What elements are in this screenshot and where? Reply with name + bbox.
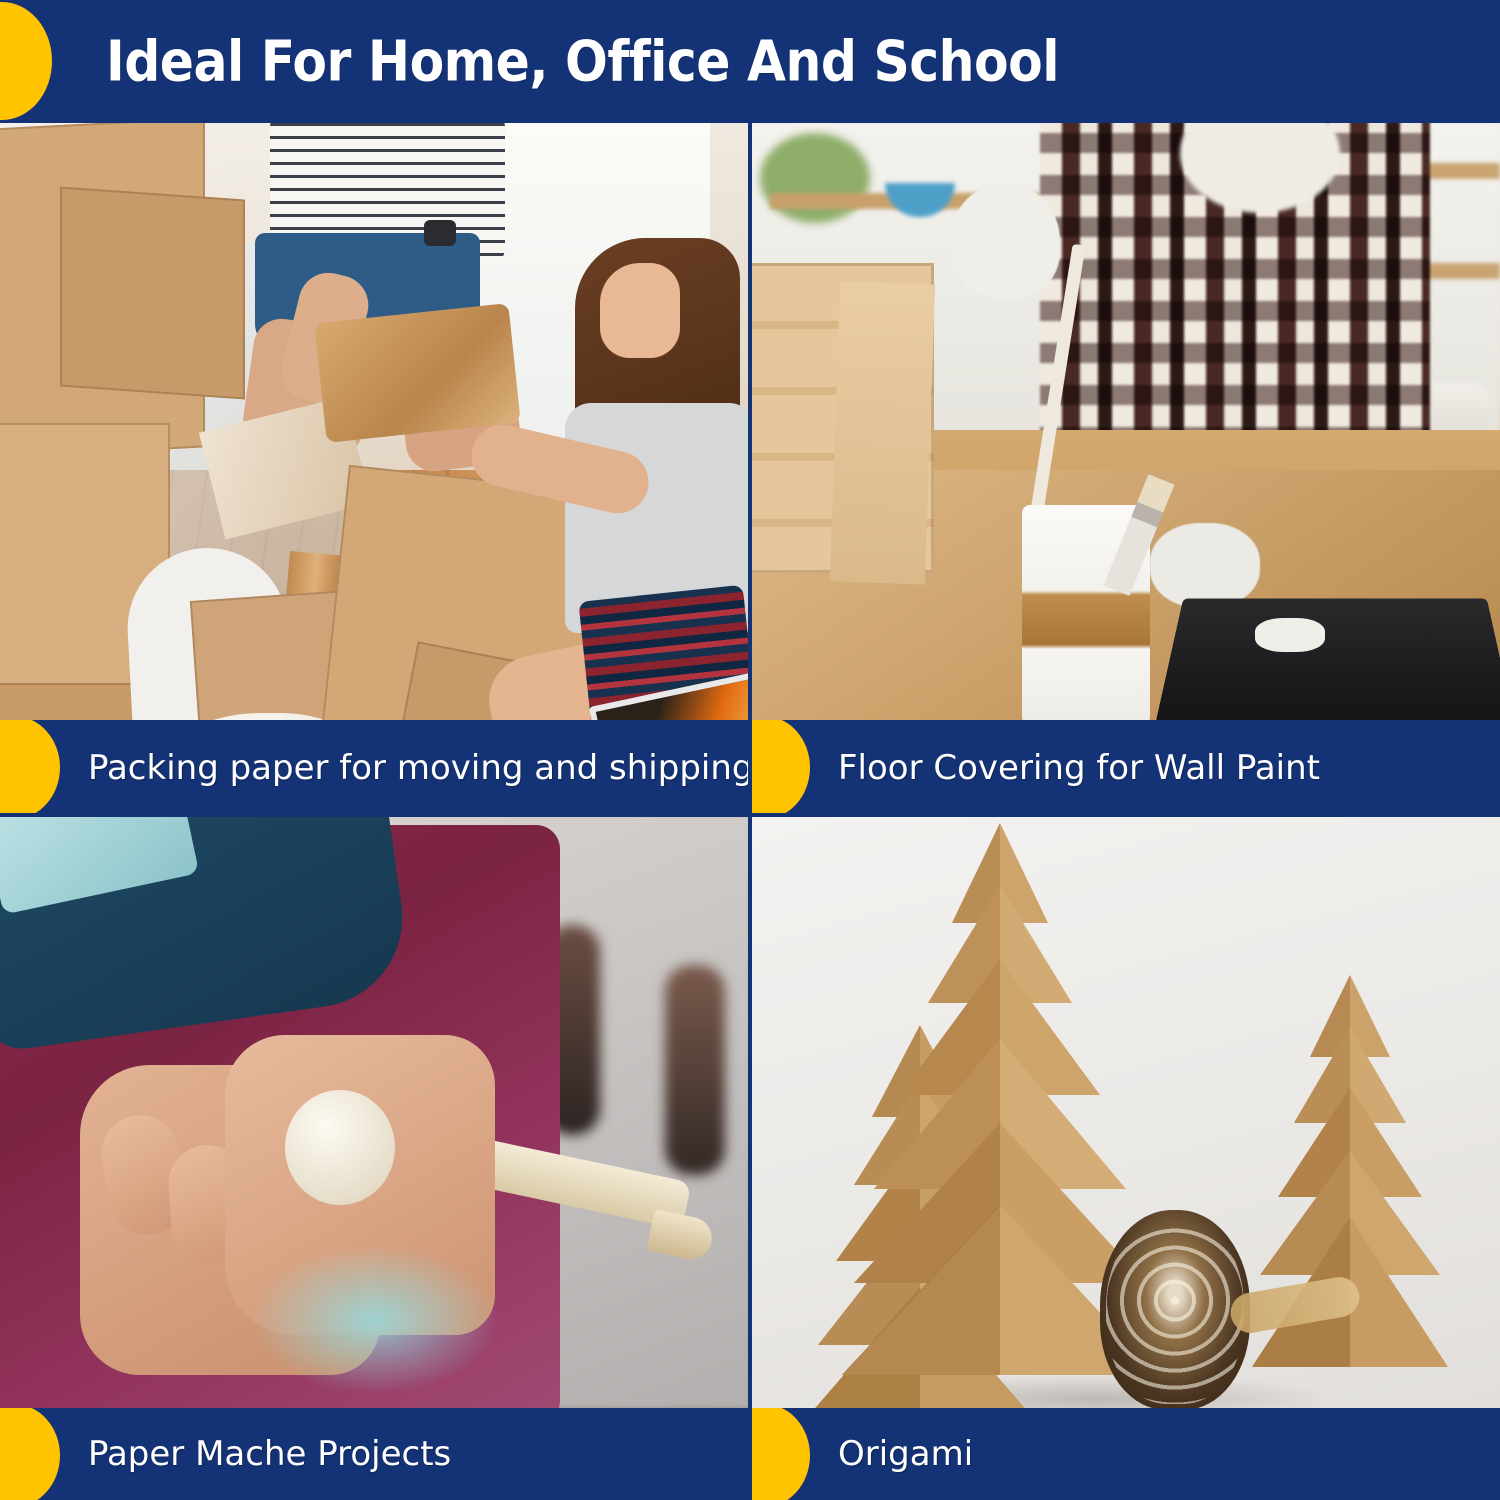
horizontal-divider (0, 813, 1500, 817)
caption-accent-semicircle (750, 1408, 810, 1500)
photo-paper-mache (0, 815, 750, 1408)
header-banner: Ideal For Home, Office And School (0, 0, 1500, 123)
photo-floor-covering (750, 123, 1500, 720)
caption-bar-origami: Origami (750, 1408, 1500, 1500)
vertical-divider (748, 123, 752, 1500)
feature-card-paper-mache[interactable]: Paper Mache Projects (0, 815, 750, 1500)
page-title: Ideal For Home, Office And School (106, 29, 1059, 94)
caption-bar-floor-covering: Floor Covering for Wall Paint (750, 720, 1500, 815)
plant (760, 133, 870, 223)
caption-text: Paper Mache Projects (88, 1434, 451, 1474)
caption-accent-semicircle (0, 720, 60, 815)
woman-face (600, 263, 680, 358)
paper-mache-ball (285, 1090, 395, 1205)
background-object (665, 965, 725, 1175)
caption-bar-paper-mache: Paper Mache Projects (0, 1408, 750, 1500)
caption-bar-packing: Packing paper for moving and shipping (0, 720, 750, 815)
paint-tray (1154, 598, 1500, 720)
cardboard-box (60, 187, 245, 400)
infographic-sheet: Ideal For Home, Office And School (0, 0, 1500, 1500)
feature-grid: Packing paper for moving and shipping (0, 123, 1500, 1500)
paint-in-tray (1255, 618, 1325, 652)
gloved-hand (950, 183, 1060, 298)
photo-origami (750, 815, 1500, 1408)
caption-text: Floor Covering for Wall Paint (838, 748, 1320, 788)
caption-accent-semicircle (750, 720, 810, 815)
feature-card-packing[interactable]: Packing paper for moving and shipping (0, 123, 750, 815)
photo-packing (0, 123, 750, 720)
crumpled-kraft-paper (314, 303, 520, 443)
caption-text: Origami (838, 1434, 973, 1474)
wristwatch (424, 220, 456, 246)
feature-card-origami[interactable]: Origami (750, 815, 1500, 1500)
header-accent-semicircle (0, 2, 52, 120)
wooden-board (830, 281, 935, 584)
feature-card-floor-covering[interactable]: Floor Covering for Wall Paint (750, 123, 1500, 815)
pine-cone (1100, 1210, 1250, 1408)
gloved-hand (1150, 523, 1260, 608)
caption-accent-semicircle (0, 1408, 60, 1500)
blue-paint-smudge (250, 1245, 500, 1395)
caption-text: Packing paper for moving and shipping (88, 748, 750, 788)
